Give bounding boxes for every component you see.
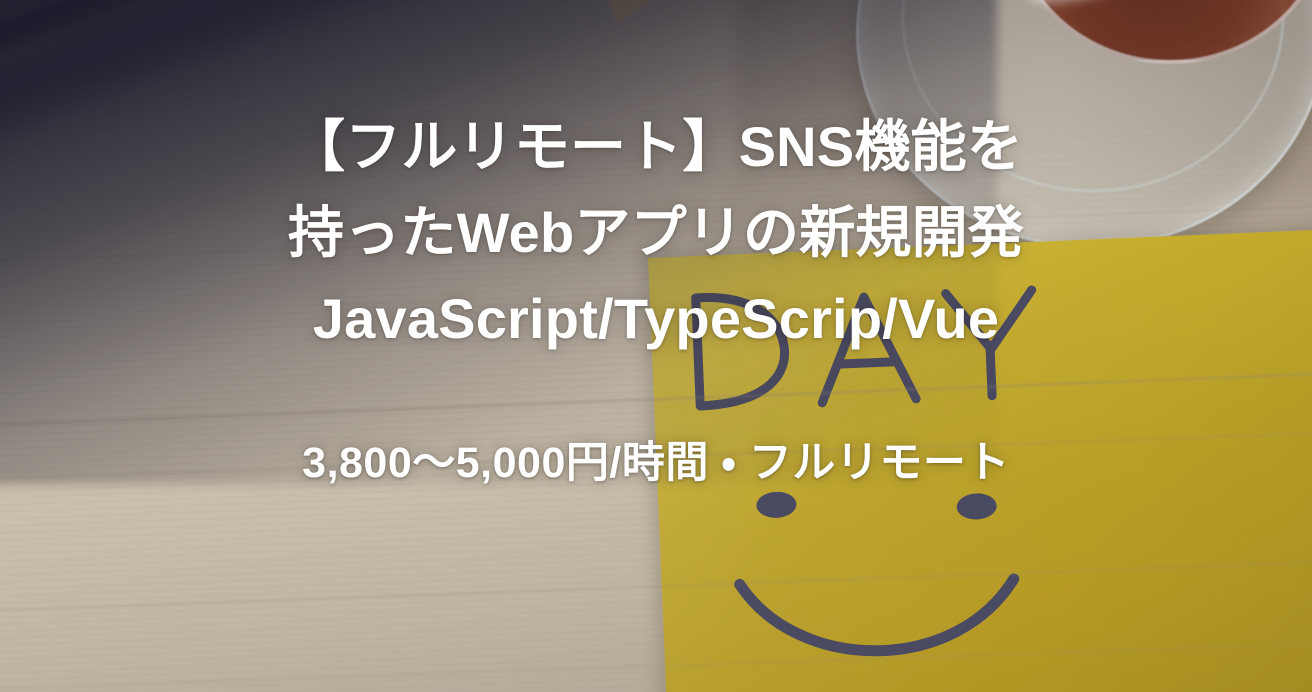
job-posting-banner: 【フルリモート】SNS機能を持ったWebアプリの新規開発JavaScript/T… <box>0 0 1312 692</box>
job-title-headline: 【フルリモート】SNS機能を持ったWebアプリの新規開発JavaScript/T… <box>266 104 1046 362</box>
banner-content: 【フルリモート】SNS機能を持ったWebアプリの新規開発JavaScript/T… <box>0 0 1312 692</box>
rate-and-worktype-subtitle: 3,800〜5,000円/時間 ・ フルリモート <box>302 362 1010 490</box>
